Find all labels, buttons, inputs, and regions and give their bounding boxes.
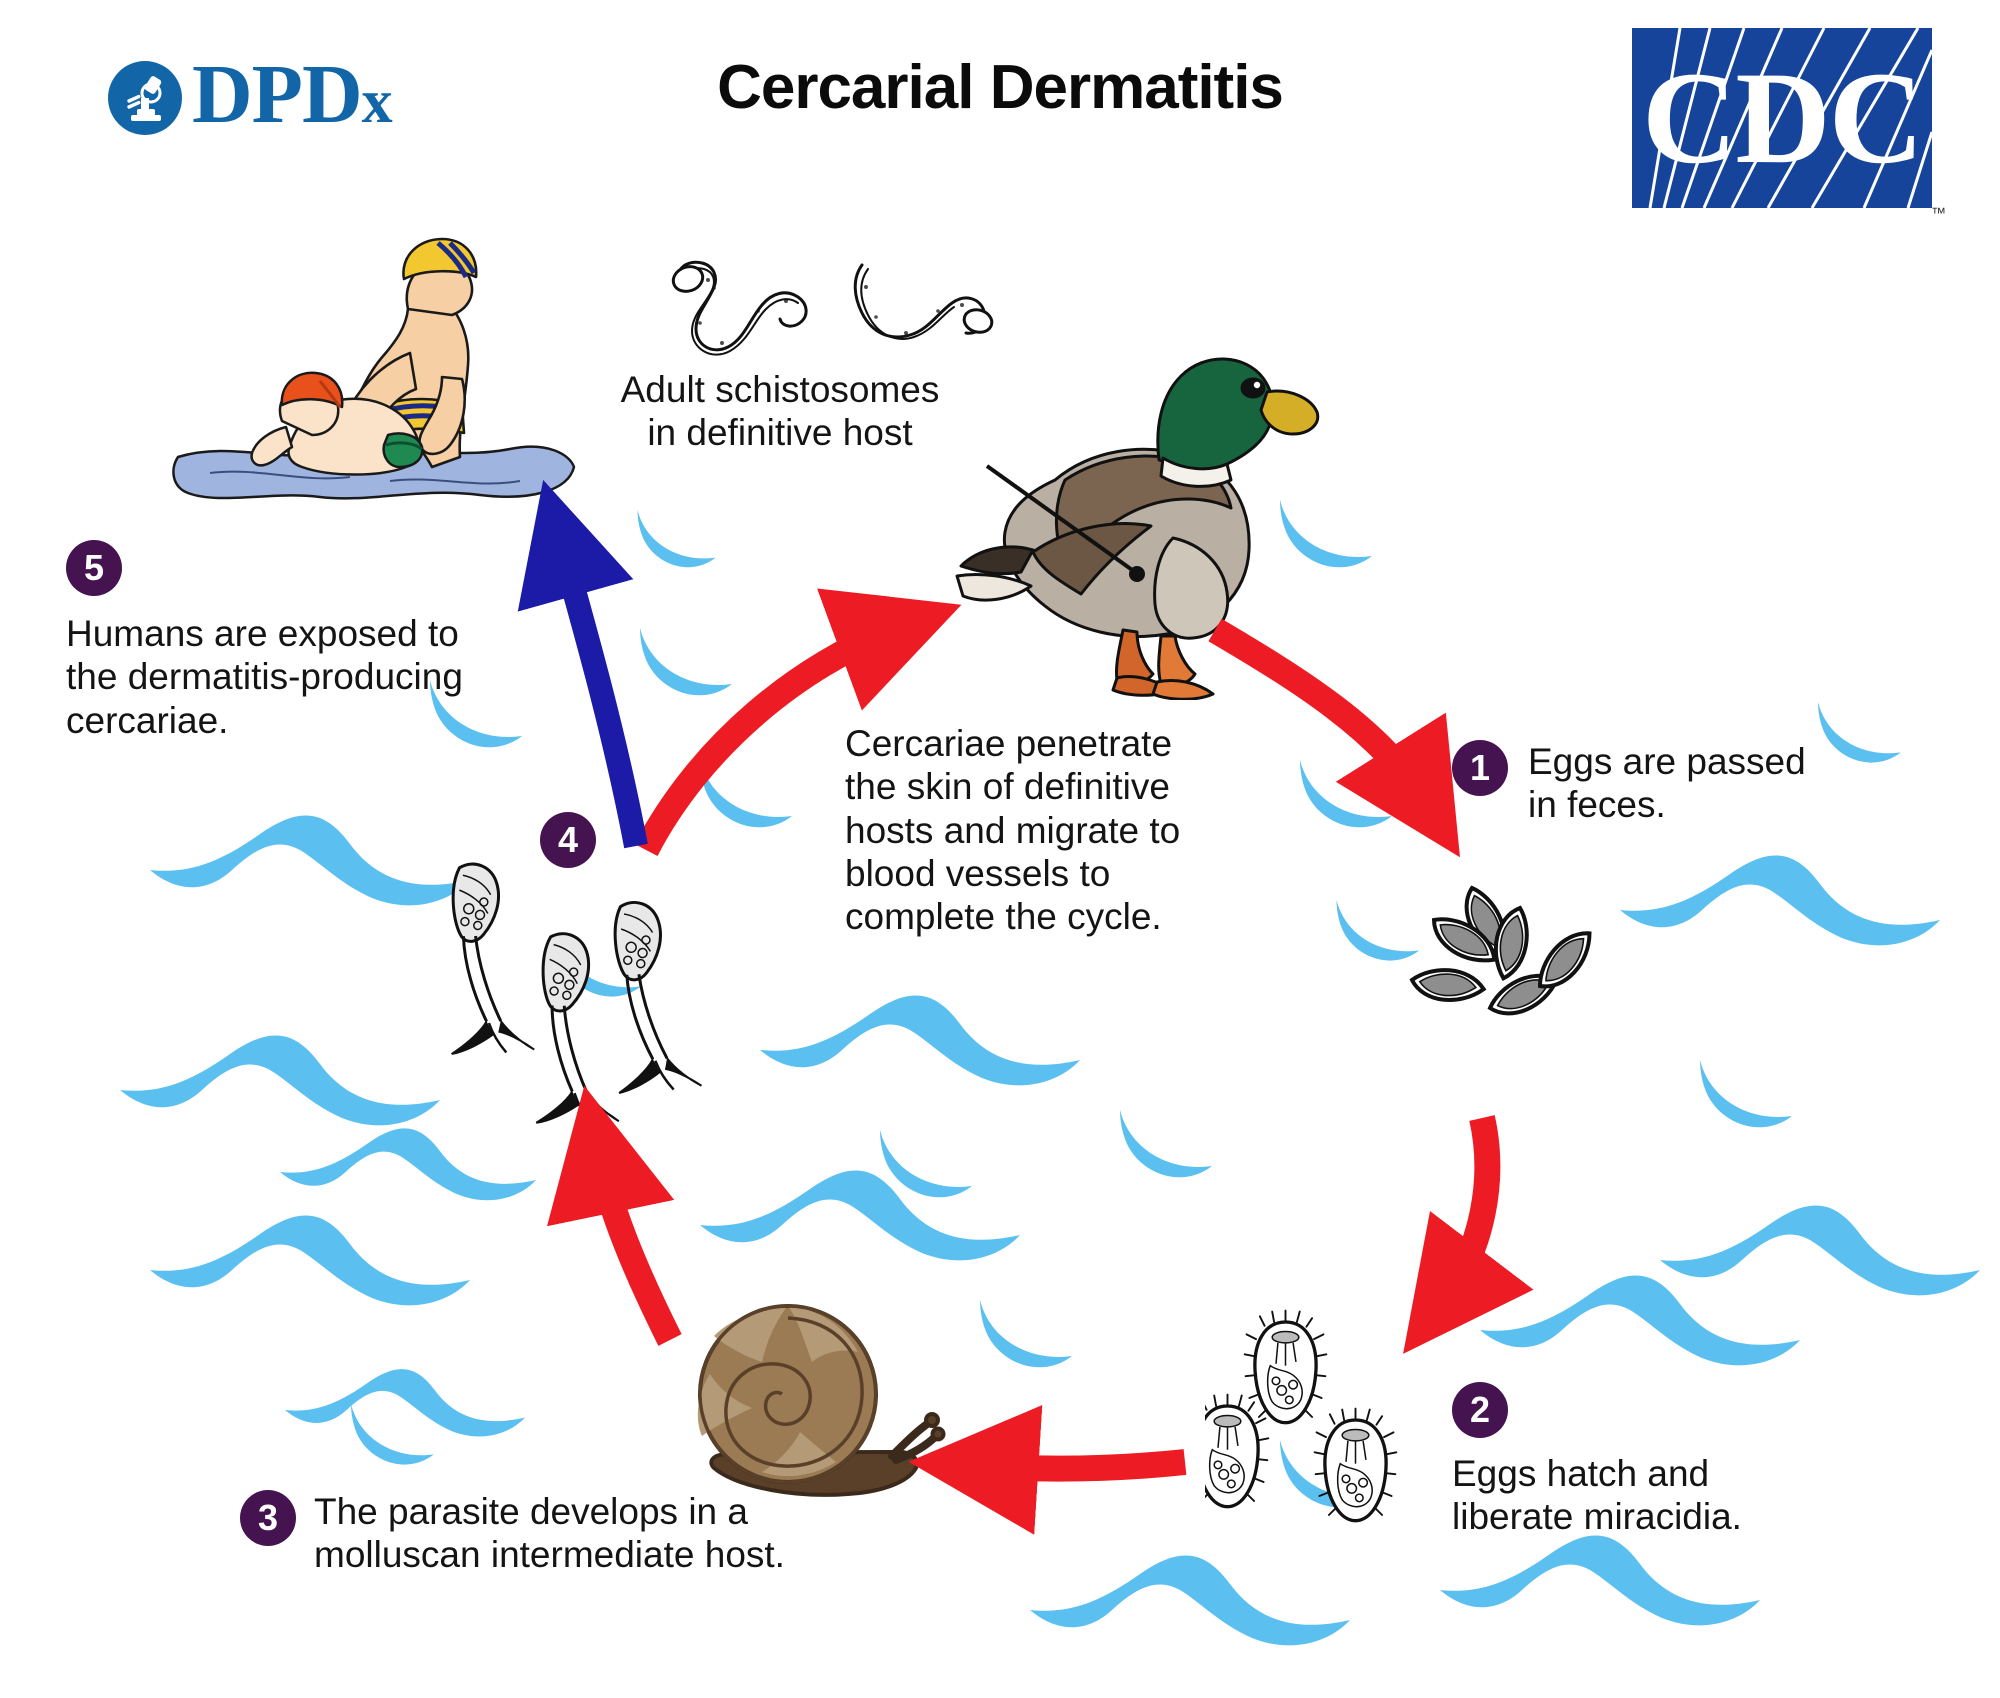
step-1-text: Eggs are passed in feces. [1528, 740, 1806, 827]
center-note-line5: complete the cycle. [845, 896, 1162, 937]
step-5-text: Humans are exposed to the dermatitis-pro… [66, 612, 586, 742]
step-3-text: The parasite develops in a molluscan int… [314, 1490, 785, 1577]
step-2: 2 Eggs hatch and liberate miracidia. [1452, 1382, 1872, 1539]
step-5-line2: the dermatitis-producing [66, 656, 463, 697]
swimmers-illustration [170, 205, 580, 525]
leader-line [983, 460, 1163, 590]
step-4: 4 [540, 812, 596, 868]
step-1-line1: Eggs are passed [1528, 741, 1806, 782]
step-2-text: Eggs hatch and liberate miracidia. [1452, 1452, 1872, 1539]
step-1-badge: 1 [1452, 740, 1508, 796]
step-5-badge: 5 [66, 540, 122, 596]
step-3: 3 The parasite develops in a molluscan i… [240, 1490, 940, 1577]
cdc-logo-box: CDC [1632, 28, 1932, 208]
center-note-line4: blood vessels to [845, 853, 1110, 894]
step-5: 5 Humans are exposed to the dermatitis-p… [66, 540, 586, 742]
center-note: Cercariae penetrate the skin of definiti… [845, 722, 1285, 938]
arrow-eggs-to-miracidia [1444, 1118, 1487, 1300]
step-2-line1: Eggs hatch and [1452, 1453, 1709, 1494]
step-2-line2: liberate miracidia. [1452, 1496, 1742, 1537]
cdc-logo-text: CDC [1632, 28, 1932, 208]
center-note-line2: the skin of definitive [845, 766, 1170, 807]
miracidia-illustration [1205, 1302, 1485, 1532]
step-4-badge: 4 [540, 812, 596, 868]
cdc-logo: CDC ™ [1632, 28, 1932, 218]
schistosome-eggs-illustration [1372, 858, 1672, 1108]
step-2-badge: 2 [1452, 1382, 1508, 1438]
cercariae-illustration [445, 855, 745, 1145]
arrow-snail-to-cercariae [598, 1152, 670, 1340]
step-3-line1: The parasite develops in a [314, 1491, 748, 1532]
step-1-line2: in feces. [1528, 784, 1666, 825]
center-note-line3: hosts and migrate to [845, 810, 1180, 851]
center-note-line1: Cercariae penetrate [845, 723, 1172, 764]
step-1: 1 Eggs are passed in feces. [1452, 740, 1882, 827]
snail-illustration [668, 1290, 958, 1520]
step-3-line2: molluscan intermediate host. [314, 1534, 785, 1575]
arrow-miracidia-to-snail [976, 1462, 1185, 1469]
step-3-badge: 3 [240, 1490, 296, 1546]
adult-worms-label-line2: in definitive host [647, 412, 912, 453]
cdc-trademark: ™ [1931, 205, 1946, 222]
step-5-line1: Humans are exposed to [66, 613, 459, 654]
adult-worms-label-line1: Adult schistosomes [621, 369, 940, 410]
step-5-line3: cercariae. [66, 700, 228, 741]
adult-worms-label: Adult schistosomes in definitive host [600, 368, 960, 455]
